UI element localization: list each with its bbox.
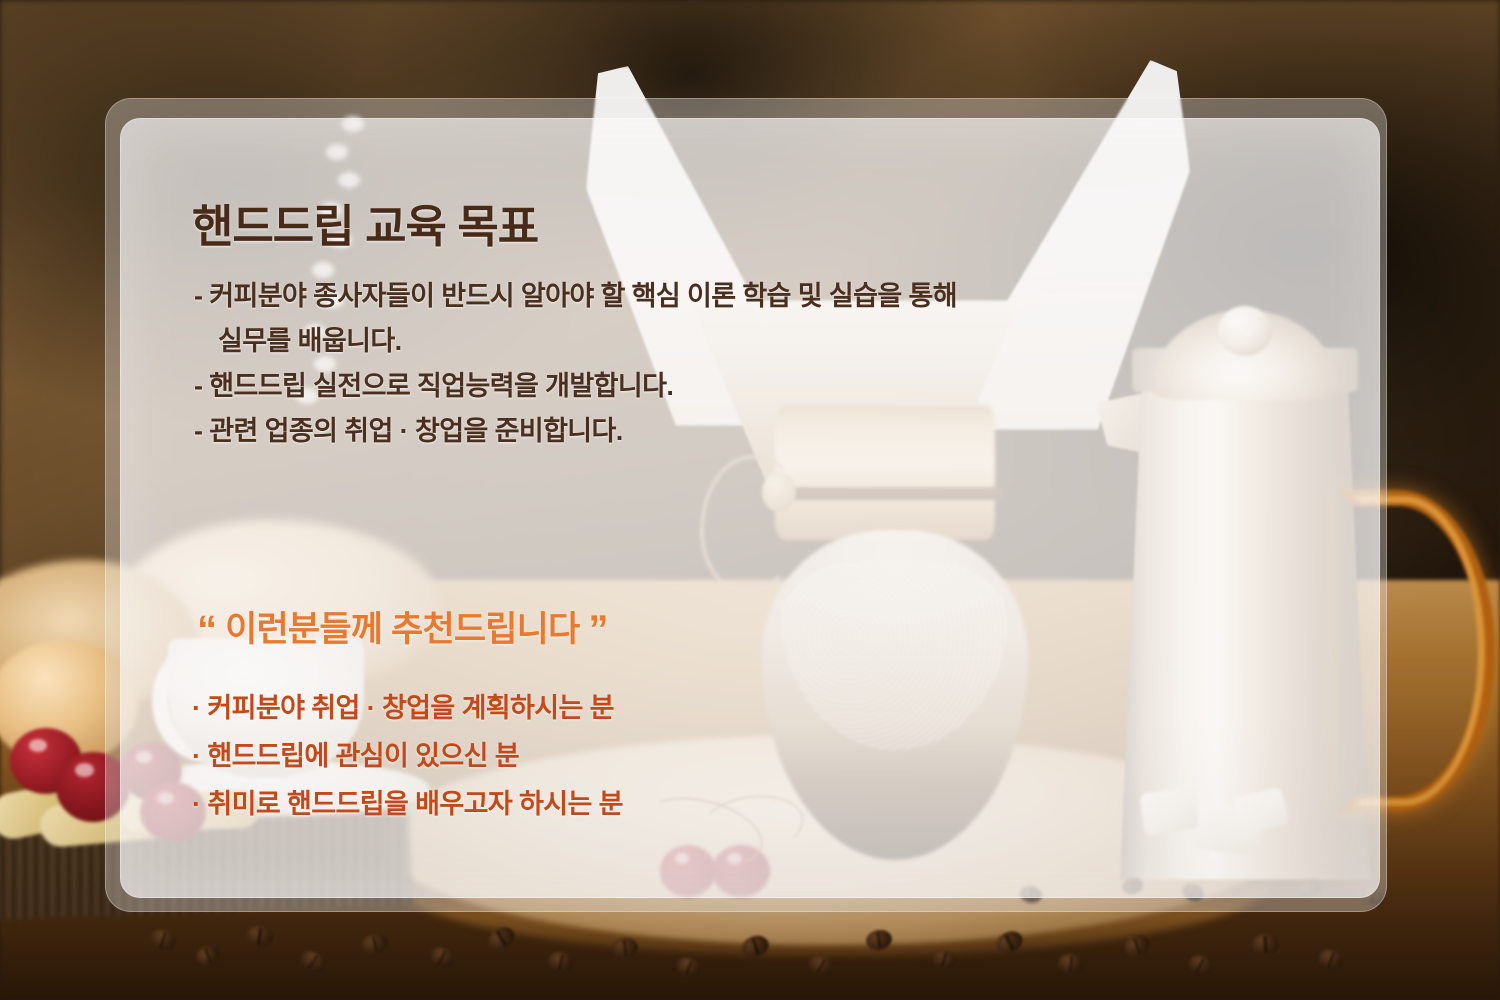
list-item-label: 커피분야 취업 · 창업을 계획하시는 분 [207, 693, 614, 723]
goal-line: - 커피분야 종사자들이 반드시 알아야 할 핵심 이론 학습 및 실습을 통해 [194, 274, 1194, 319]
goal-line: 실무를 배웁니다. [194, 319, 1194, 364]
goal-line: - 핸드드립 실전으로 직업능력을 개발합니다. [194, 364, 1194, 409]
close-quote-icon: ” [588, 608, 607, 652]
list-item-label: 핸드드립에 관심이 있으신 분 [207, 741, 519, 771]
bullet-dot-icon: · [192, 789, 200, 819]
list-item-label: 취미로 핸드드립을 배우고자 하시는 분 [207, 789, 622, 819]
bullet-dot-icon: · [192, 693, 200, 723]
recommendation-heading-text: 이런분들께 추천드립니다 [216, 610, 588, 649]
recommendation-list: ·커피분야 취업 · 창업을 계획하시는 분 ·핸드드립에 관심이 있으신 분 … [192, 684, 1092, 828]
promo-banner: 핸드드립 교육 목표 - 커피분야 종사자들이 반드시 알아야 할 핵심 이론 … [0, 0, 1500, 1000]
open-quote-icon: “ [197, 608, 216, 652]
list-item: ·커피분야 취업 · 창업을 계획하시는 분 [192, 684, 1092, 732]
list-item: ·취미로 핸드드립을 배우고자 하시는 분 [192, 780, 1092, 828]
page-title: 핸드드립 교육 목표 [192, 190, 538, 255]
list-item: ·핸드드립에 관심이 있으신 분 [192, 732, 1092, 780]
goal-list: - 커피분야 종사자들이 반드시 알아야 할 핵심 이론 학습 및 실습을 통해… [194, 274, 1194, 454]
goal-line: - 관련 업종의 취업 · 창업을 준비합니다. [194, 409, 1194, 454]
recommendation-heading: “ 이런분들께 추천드립니다 ” [197, 601, 608, 653]
bullet-dot-icon: · [192, 741, 200, 771]
